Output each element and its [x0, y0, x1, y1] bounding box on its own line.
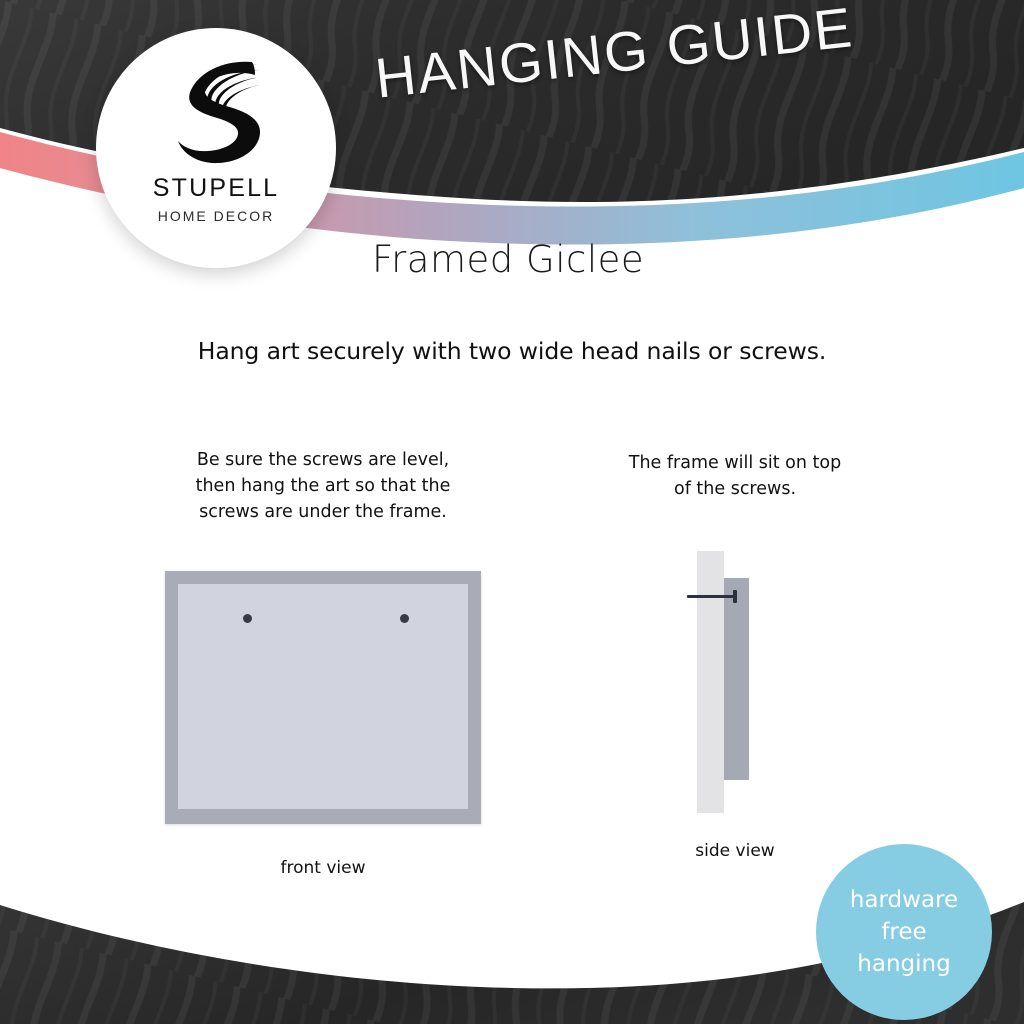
badge-line-1: hardware	[850, 884, 958, 916]
stupell-s-swoosh-icon	[156, 54, 276, 172]
frame-inner-mat	[178, 584, 468, 809]
screw-dot-left	[243, 614, 252, 623]
side-view-section: The frame will sit on top of the screws.…	[590, 450, 880, 861]
side-caption-line-2: of the screws.	[590, 476, 880, 502]
front-caption-line-1: Be sure the screws are level,	[140, 447, 506, 473]
hardware-free-hanging-badge: hardware free hanging	[816, 844, 992, 1020]
screw-dot-right	[400, 614, 409, 623]
side-caption-line-1: The frame will sit on top	[590, 450, 880, 476]
page-title: HANGING GUIDE	[372, 0, 856, 111]
screw-head-icon	[733, 590, 737, 603]
front-caption-line-3: screws are under the frame.	[140, 499, 506, 525]
frame-profile	[724, 578, 749, 780]
side-view-caption: The frame will sit on top of the screws.	[590, 450, 880, 502]
side-view-diagram	[675, 551, 795, 813]
brand-name: STUPELL	[153, 174, 280, 203]
screw-shank-icon	[687, 595, 735, 598]
badge-line-2: free	[881, 916, 926, 948]
side-view-label: side view	[590, 841, 880, 861]
front-view-section: Be sure the screws are level, then hang …	[140, 447, 506, 878]
front-caption-line-2: then hang the art so that the	[140, 473, 506, 499]
product-type: Framed Giclee	[372, 238, 644, 281]
badge-line-3: hanging	[857, 948, 950, 980]
front-view-label: front view	[140, 858, 506, 878]
hanging-guide-page: STUPELL HOME DECOR HANGING GUIDE Framed …	[0, 0, 1024, 1024]
front-view-caption: Be sure the screws are level, then hang …	[140, 447, 506, 525]
lead-instruction: Hang art securely with two wide head nai…	[0, 337, 1024, 365]
brand-tagline: HOME DECOR	[158, 208, 274, 224]
wall-profile	[697, 551, 724, 813]
brand-logo-badge: STUPELL HOME DECOR	[96, 28, 336, 268]
front-view-diagram	[165, 571, 481, 824]
